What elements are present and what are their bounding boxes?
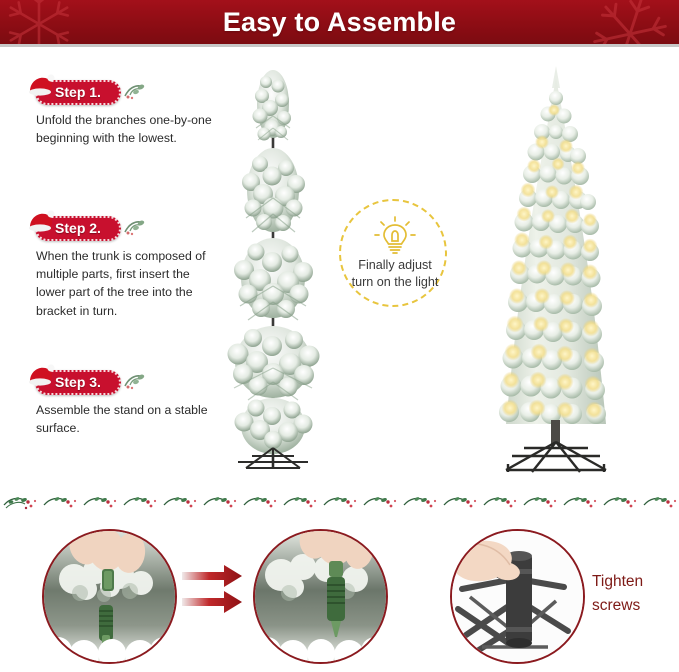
step-block-2: Step 2. When the trunk is composed of mu… [22,212,237,320]
santa-hat-icon [26,363,56,392]
photo-connector-unplugged [42,529,177,664]
tip-line-2: turn on the light [352,275,439,289]
tighten-line-2: screws [592,597,640,614]
step-description: Assemble the stand on a stable surface. [22,401,222,437]
tip-line-1: Finally adjust [358,258,432,272]
santa-hat-icon [26,209,56,238]
assembled-prelit-flocked-tree [466,62,646,487]
step-description: Unfold the branches one-by-one beginning… [22,111,222,147]
photo-tighten-stand-screws [450,529,585,664]
santa-hat-icon [26,73,56,102]
holly-sprig-icon [122,372,148,397]
metal-tree-stand [506,442,606,472]
page-title: Easy to Assemble [0,0,679,44]
step-badge-2: Step 2. [22,212,222,244]
holly-sprig-icon [122,218,148,243]
header-divider [0,44,679,47]
step-badge-1: Step 1. [22,76,222,108]
step-badge-3: Step 3. [22,366,222,398]
disassembled-flocked-tree-sections [208,66,338,481]
step-block-1: Step 1. Unfold the branches one-by-one b… [22,76,237,147]
red-arrow-icon [182,562,252,623]
holly-berry-border [0,492,679,518]
tip-text: Finally adjust turn on the light [337,257,453,290]
holly-sprig-icon [122,82,148,107]
photo-connector-plugged [253,529,388,664]
tighten-screws-label: Tighten screws [592,570,678,618]
tighten-line-1: Tighten [592,573,643,590]
tip-callout: Finally adjust turn on the light [339,199,447,307]
step-block-3: Step 3. Assemble the stand on a stable s… [22,366,237,437]
step-description: When the trunk is composed of multiple p… [22,247,222,320]
